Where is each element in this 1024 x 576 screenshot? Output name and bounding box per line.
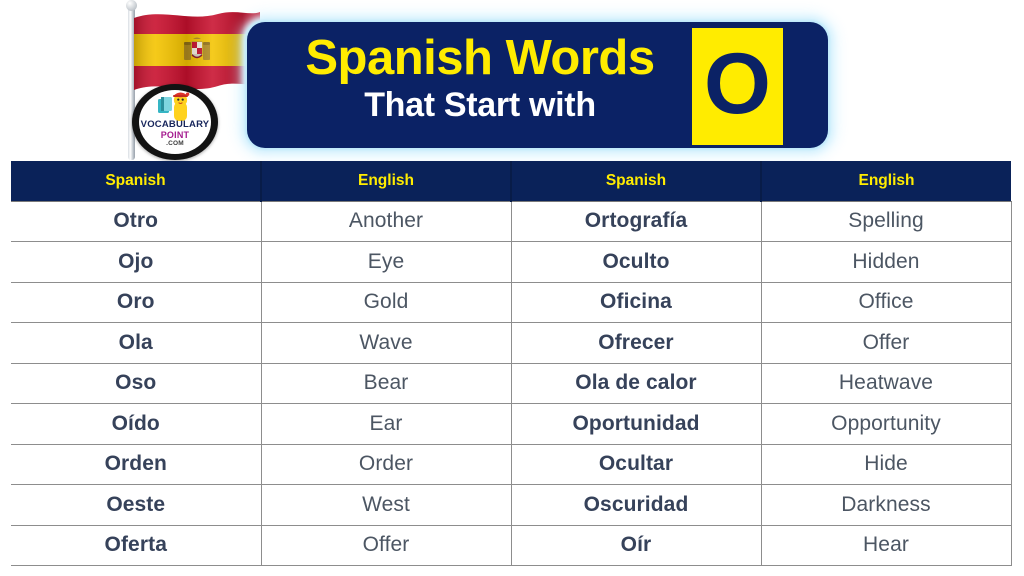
cell-english: Office [761,282,1011,323]
table-header-row: Spanish English Spanish English [11,161,1011,201]
cell-spanish: Oportunidad [511,404,761,445]
cell-spanish: Oír [511,525,761,566]
cell-english: Ear [261,404,511,445]
cell-english: Heatwave [761,363,1011,404]
cell-english: Opportunity [761,404,1011,445]
cell-english: Offer [261,525,511,566]
logo-word-vocabulary: VOCABULARY [139,120,211,130]
table-row: OtroAnotherOrtografíaSpelling [11,201,1011,242]
column-header-english-1: English [261,161,511,201]
logo-word-dotcom: .COM [139,141,211,148]
cell-english: Gold [261,282,511,323]
cell-english: Eye [261,242,511,283]
cell-english: Hidden [761,242,1011,283]
column-header-spanish-2: Spanish [511,161,761,201]
page-root: VOCABULARY POINT .COM Spanish Words That… [0,0,1024,576]
cell-spanish: Ola [11,323,261,364]
cell-spanish: Oso [11,363,261,404]
table-row: OjoEyeOcultoHidden [11,242,1011,283]
table-row: OesteWestOscuridadDarkness [11,485,1011,526]
letter-badge-text: O [692,28,783,141]
cell-english: Spelling [761,201,1011,242]
cell-english: Bear [261,363,511,404]
cell-spanish: Ortografía [511,201,761,242]
table-row: OroGoldOficinaOffice [11,282,1011,323]
vocabulary-table: Spanish English Spanish English OtroAnot… [11,161,1012,566]
cell-spanish: Otro [11,201,261,242]
cell-english: Offer [761,323,1011,364]
cell-english: Wave [261,323,511,364]
column-header-spanish-1: Spanish [11,161,261,201]
cell-english: Order [261,444,511,485]
cell-spanish: Ola de calor [511,363,761,404]
banner-title-line2: That Start with [265,88,695,122]
cell-english: Darkness [761,485,1011,526]
banner-title-line1: Spanish Words [265,34,695,83]
logo-word-point: POINT [139,131,211,140]
cell-english: Hear [761,525,1011,566]
vocabulary-point-logo: VOCABULARY POINT .COM [132,84,218,160]
table-row: OfertaOfferOírHear [11,525,1011,566]
table-row: OlaWaveOfrecerOffer [11,323,1011,364]
table-row: OídoEarOportunidadOpportunity [11,404,1011,445]
title-banner: Spanish Words That Start with O [247,22,828,148]
page-header: VOCABULARY POINT .COM Spanish Words That… [0,0,1024,158]
cell-english: West [261,485,511,526]
cell-spanish: Oro [11,282,261,323]
cell-spanish: Oficina [511,282,761,323]
table-row: OrdenOrderOcultarHide [11,444,1011,485]
table-header: Spanish English Spanish English [11,161,1011,201]
cell-spanish: Oculto [511,242,761,283]
table-body: OtroAnotherOrtografíaSpellingOjoEyeOcult… [11,201,1011,566]
cell-english: Hide [761,444,1011,485]
cell-spanish: Oscuridad [511,485,761,526]
logo-inner: VOCABULARY POINT .COM [139,90,211,154]
cell-spanish: Oído [11,404,261,445]
table-row: OsoBearOla de calorHeatwave [11,363,1011,404]
column-header-english-2: English [761,161,1011,201]
cell-english: Another [261,201,511,242]
cell-spanish: Ocultar [511,444,761,485]
letter-badge: O [692,28,783,145]
cell-spanish: Ofrecer [511,323,761,364]
cell-spanish: Oeste [11,485,261,526]
cell-spanish: Ojo [11,242,261,283]
cell-spanish: Orden [11,444,261,485]
cell-spanish: Oferta [11,525,261,566]
